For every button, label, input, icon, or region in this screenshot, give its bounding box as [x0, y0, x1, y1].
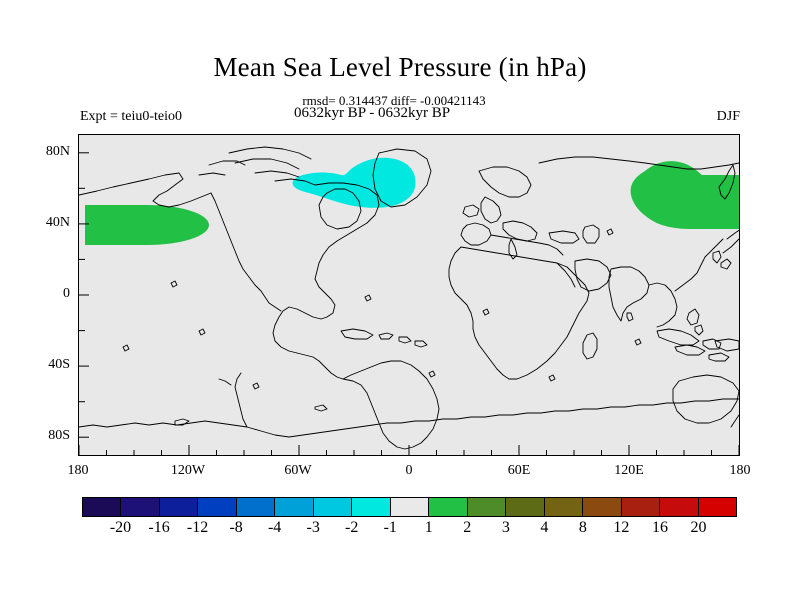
colorbar-segment-0	[83, 498, 121, 516]
case-label: 0632kyr BP - 0632kyr BP	[0, 105, 800, 122]
world-map	[79, 135, 739, 455]
region-bering-east-edge	[675, 175, 739, 227]
colorbar-segment-11	[506, 498, 544, 516]
season-label: DJF	[717, 109, 740, 125]
colorbar-segment-5	[275, 498, 313, 516]
figure-root: Mean Sea Level Pressure (in hPa) rmsd= 0…	[0, 0, 800, 600]
colorbar-tick-label-10: 3	[484, 519, 528, 537]
colorbar-segment-13	[583, 498, 621, 516]
colorbar-labels: -20-16-12-8-4-3-2-112348121620	[82, 519, 737, 541]
colorbar-segment-9	[429, 498, 467, 516]
colorbar-tick-label-7: -1	[368, 519, 412, 537]
y-tick-label-40n: 40N	[4, 215, 70, 231]
colorbar-tick-label-8: 1	[407, 519, 451, 537]
colorbar-tick-label-12: 8	[561, 519, 605, 537]
colorbar-segment-16	[699, 498, 736, 516]
map-plot-area	[78, 134, 740, 456]
colorbar-segment-2	[160, 498, 198, 516]
y-tick-label-0: 0	[4, 286, 70, 302]
y-tick-label-40s: 40S	[4, 357, 70, 373]
x-tick-label-60e: 60E	[489, 463, 549, 479]
colorbar-segment-8	[391, 498, 429, 516]
x-tick-label-60w: 60W	[268, 463, 328, 479]
colorbar-tick-label-3: -8	[214, 519, 258, 537]
region-north-pacific-positive-anomaly-body	[85, 205, 147, 245]
colorbar-tick-label-11: 4	[522, 519, 566, 537]
colorbar-segment-12	[545, 498, 583, 516]
colorbar-tick-label-0: -20	[99, 519, 143, 537]
colorbar-tick-label-14: 16	[638, 519, 682, 537]
colorbar-tick-label-2: -12	[176, 519, 220, 537]
colorbar-segment-4	[237, 498, 275, 516]
colorbar-segment-7	[352, 498, 390, 516]
colorbar-segment-10	[468, 498, 506, 516]
x-tick-label-120w: 120W	[158, 463, 218, 479]
colorbar-tick-label-15: 20	[676, 519, 720, 537]
y-tick-label-80s: 80S	[4, 428, 70, 444]
colorbar-segment-6	[314, 498, 352, 516]
x-tick-label-180e: 180	[710, 463, 770, 479]
colorbar-segment-3	[198, 498, 236, 516]
colorbar-tick-label-6: -2	[330, 519, 374, 537]
case-text: 0632kyr BP - 0632kyr BP	[294, 105, 450, 121]
colorbar-tick-label-13: 12	[599, 519, 643, 537]
x-tick-label-180w: 180	[48, 463, 108, 479]
colorbar-segment-15	[660, 498, 698, 516]
x-tick-label-120e: 120E	[599, 463, 659, 479]
x-tick-label-0: 0	[379, 463, 439, 479]
colorbar-tick-label-9: 2	[445, 519, 489, 537]
y-tick-label-80n: 80N	[4, 144, 70, 160]
colorbar-segment-14	[622, 498, 660, 516]
colorbar-tick-label-5: -3	[291, 519, 335, 537]
colorbar-segment-1	[121, 498, 159, 516]
colorbar-tick-label-4: -4	[253, 519, 297, 537]
page-title: Mean Sea Level Pressure (in hPa)	[0, 52, 800, 83]
colorbar-tick-label-1: -16	[137, 519, 181, 537]
colorbar	[82, 497, 737, 517]
